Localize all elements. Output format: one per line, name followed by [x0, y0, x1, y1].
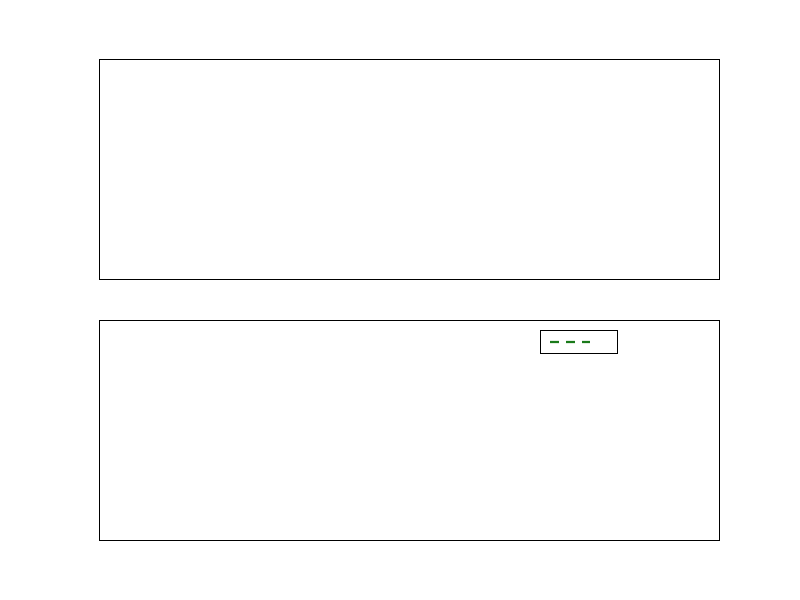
top-panel-axes — [99, 59, 720, 280]
histogram-plot — [100, 60, 719, 279]
legend-box — [540, 330, 618, 354]
bottom-panel-axes — [99, 320, 720, 541]
legend-line-sample-mag-limit — [549, 336, 591, 348]
figure-canvas — [0, 0, 800, 600]
cumulative-plot — [100, 321, 719, 540]
